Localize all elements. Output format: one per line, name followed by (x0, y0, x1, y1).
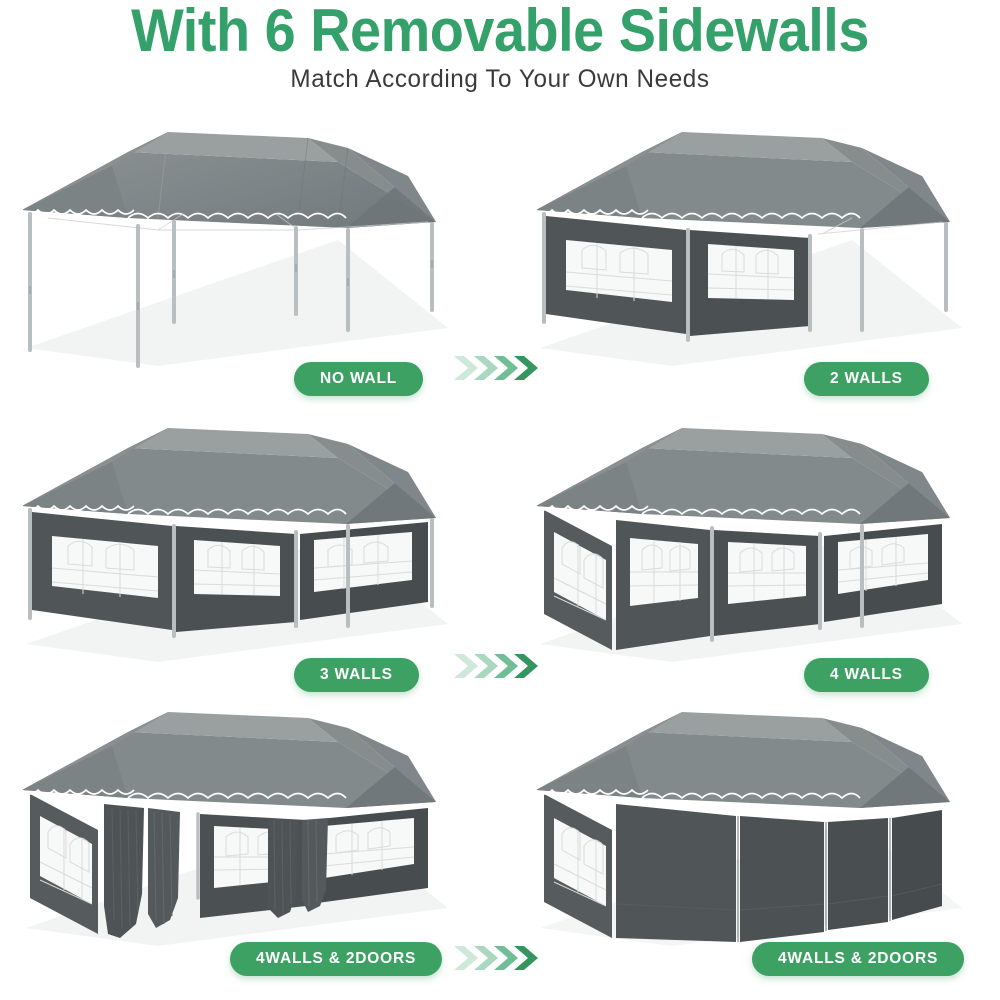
canopy-4-walls-illustration (522, 414, 992, 664)
canopy-cell-3-walls: 3 WALLS (8, 414, 478, 696)
canopy-cell-4-walls-2-doors-open: 4WALLS & 2DOORS (8, 698, 478, 980)
flow-arrow-row-1 (452, 348, 544, 388)
variant-label-4-walls-2-doors-closed[interactable]: 4WALLS & 2DOORS (752, 942, 964, 976)
flow-arrow-row-3 (452, 938, 544, 978)
page-subtitle: Match According To Your Own Needs (15, 62, 985, 96)
canopy-doors-open-illustration (8, 698, 478, 948)
chevrons-right-icon (452, 348, 544, 388)
canopy-variant-grid: NO WALL (0, 118, 1000, 1000)
chevrons-right-icon (452, 938, 544, 978)
canopy-cell-4-walls: 4 WALLS (522, 414, 992, 696)
variant-label-3-walls[interactable]: 3 WALLS (294, 658, 419, 692)
canopy-cell-4-walls-2-doors-closed: 4WALLS & 2DOORS (522, 698, 992, 980)
canopy-no-wall-illustration (8, 118, 478, 368)
canopy-3-walls-illustration (8, 414, 478, 664)
canopy-2-walls-illustration (522, 118, 992, 368)
header: With 6 Removable Sidewalls Match Accordi… (0, 0, 1000, 96)
canopy-doors-closed-illustration (522, 698, 992, 948)
variant-label-no-wall[interactable]: NO WALL (294, 362, 423, 396)
variant-label-4-walls[interactable]: 4 WALLS (804, 658, 929, 692)
flow-arrow-row-2 (452, 646, 544, 686)
canopy-cell-2-walls: 2 WALLS (522, 118, 992, 400)
chevrons-right-icon (452, 646, 544, 686)
page-title: With 6 Removable Sidewalls (35, 0, 965, 62)
variant-label-4-walls-2-doors-open[interactable]: 4WALLS & 2DOORS (230, 942, 442, 976)
canopy-cell-no-wall: NO WALL (8, 118, 478, 400)
infographic-page: With 6 Removable Sidewalls Match Accordi… (0, 0, 1000, 1000)
variant-label-2-walls[interactable]: 2 WALLS (804, 362, 929, 396)
